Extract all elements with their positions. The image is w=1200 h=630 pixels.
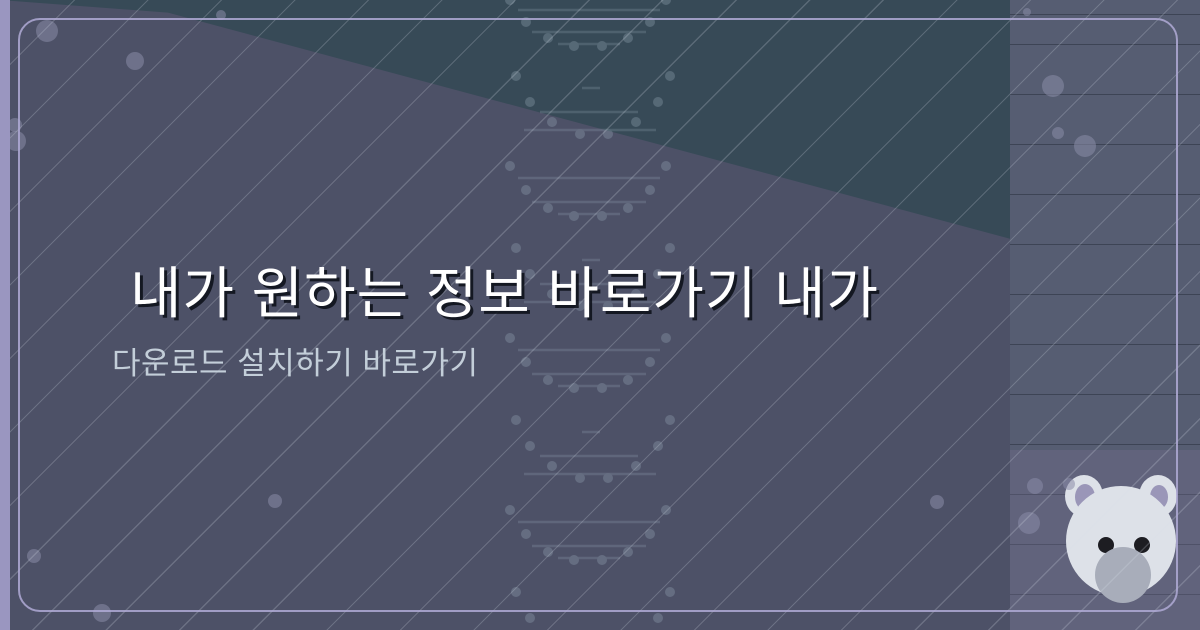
bear-mascot-icon — [1055, 465, 1185, 605]
decor-circle — [930, 495, 944, 509]
decor-circle — [126, 52, 144, 70]
banner-canvas: 내가 원하는 정보 바로가기 내가 다운로드 설치하기 바로가기 — [0, 0, 1200, 630]
decor-circle — [1052, 127, 1064, 139]
headline-block: 내가 원하는 정보 바로가기 내가 다운로드 설치하기 바로가기 — [0, 258, 1200, 384]
decor-circle — [93, 604, 111, 622]
decor-circle — [268, 494, 282, 508]
decor-circle — [36, 20, 58, 42]
decor-circle — [8, 118, 22, 132]
decor-circle — [1074, 135, 1096, 157]
decor-circle — [1042, 75, 1064, 97]
page-subtitle: 다운로드 설치하기 바로가기 — [0, 330, 1200, 384]
decor-circle — [27, 549, 41, 563]
page-title: 내가 원하는 정보 바로가기 내가 — [0, 258, 1200, 330]
decor-circle — [216, 10, 226, 20]
decor-circle — [1018, 512, 1040, 534]
decor-circle — [1023, 8, 1031, 16]
decor-circle — [1027, 478, 1043, 494]
